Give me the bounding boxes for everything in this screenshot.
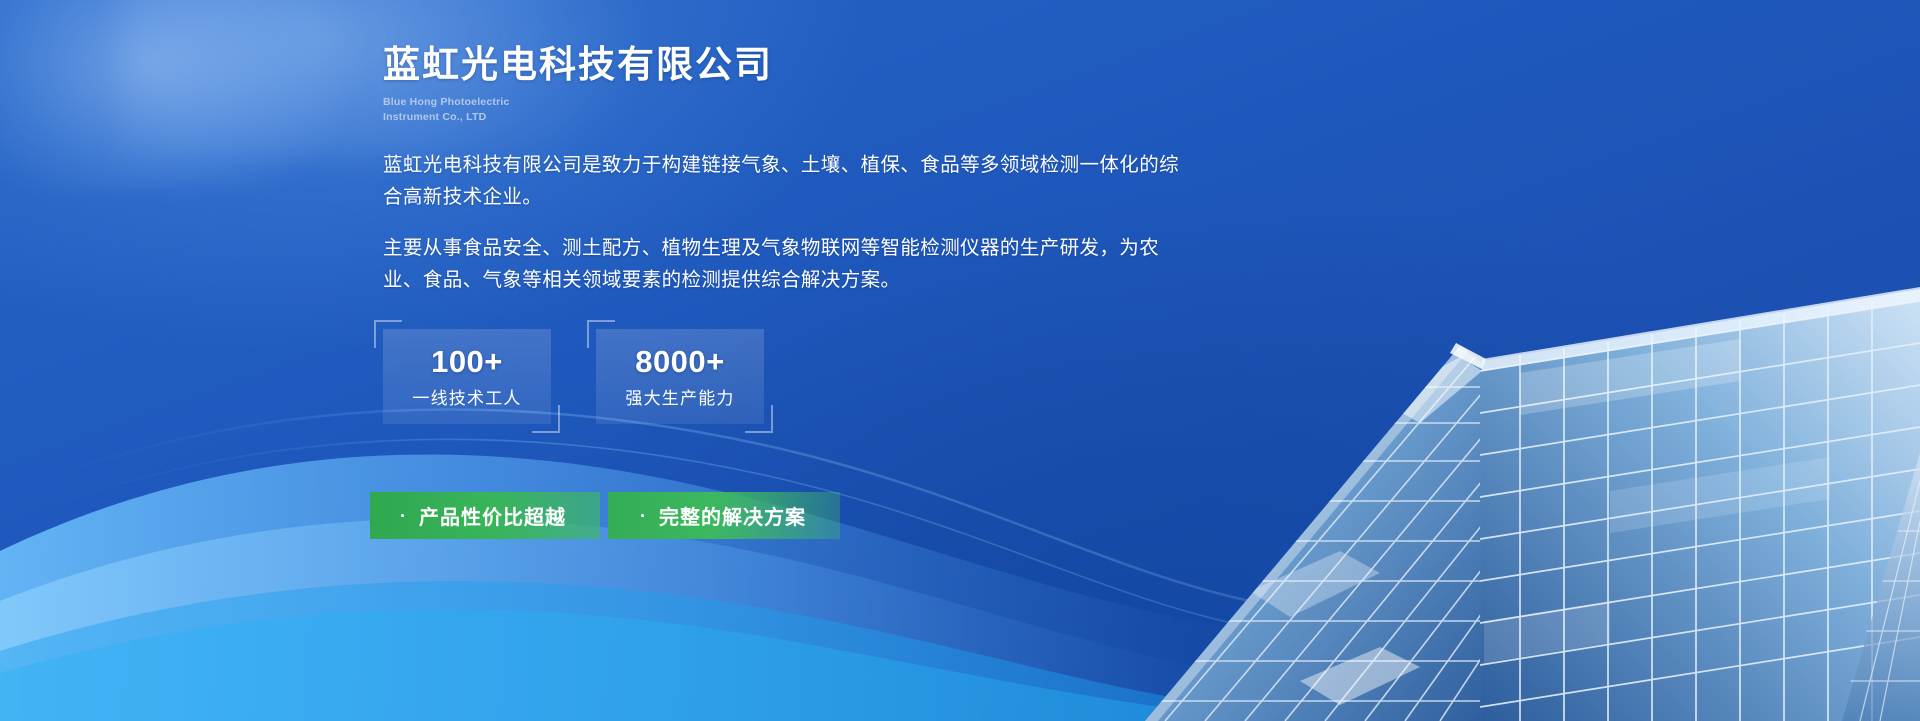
feature-pills: · 产品性价比超越 · 完整的解决方案: [370, 492, 840, 539]
bullet-icon: ·: [640, 507, 647, 525]
feature-pill-label: 完整的解决方案: [659, 501, 806, 530]
stats-row: 100+ 一线技术工人 8000+ 强大生产能力: [383, 329, 1563, 424]
hero-banner: 蓝虹光电科技有限公司 Blue Hong Photoelectric Instr…: [0, 0, 1920, 721]
stat-label: 强大生产能力: [625, 390, 734, 407]
stat-card-workers: 100+ 一线技术工人: [383, 329, 551, 424]
company-subtitle-line1: Blue Hong Photoelectric: [383, 95, 1563, 110]
feature-pill-value[interactable]: · 产品性价比超越: [370, 492, 600, 539]
intro-paragraph-1: 蓝虹光电科技有限公司是致力于构建链接气象、土壤、植保、食品等多领域检测一体化的综…: [383, 150, 1183, 213]
hero-content: 蓝虹光电科技有限公司 Blue Hong Photoelectric Instr…: [383, 0, 1563, 424]
feature-pill-label: 产品性价比超越: [419, 501, 566, 530]
bullet-icon: ·: [400, 507, 407, 525]
stat-card-capacity: 8000+ 强大生产能力: [596, 329, 764, 424]
company-subtitle-line2: Instrument Co., LTD: [383, 110, 1563, 125]
stat-number: 100+: [431, 346, 503, 377]
stat-label: 一线技术工人: [412, 390, 521, 407]
company-subtitle-english: Blue Hong Photoelectric Instrument Co., …: [383, 95, 1563, 125]
intro-paragraph-2: 主要从事食品安全、测土配方、植物生理及气象物联网等智能检测仪器的生产研发，为农业…: [383, 233, 1183, 296]
stat-number: 8000+: [635, 346, 725, 377]
company-title: 蓝虹光电科技有限公司: [383, 41, 1563, 88]
feature-pill-solution[interactable]: · 完整的解决方案: [608, 492, 840, 539]
